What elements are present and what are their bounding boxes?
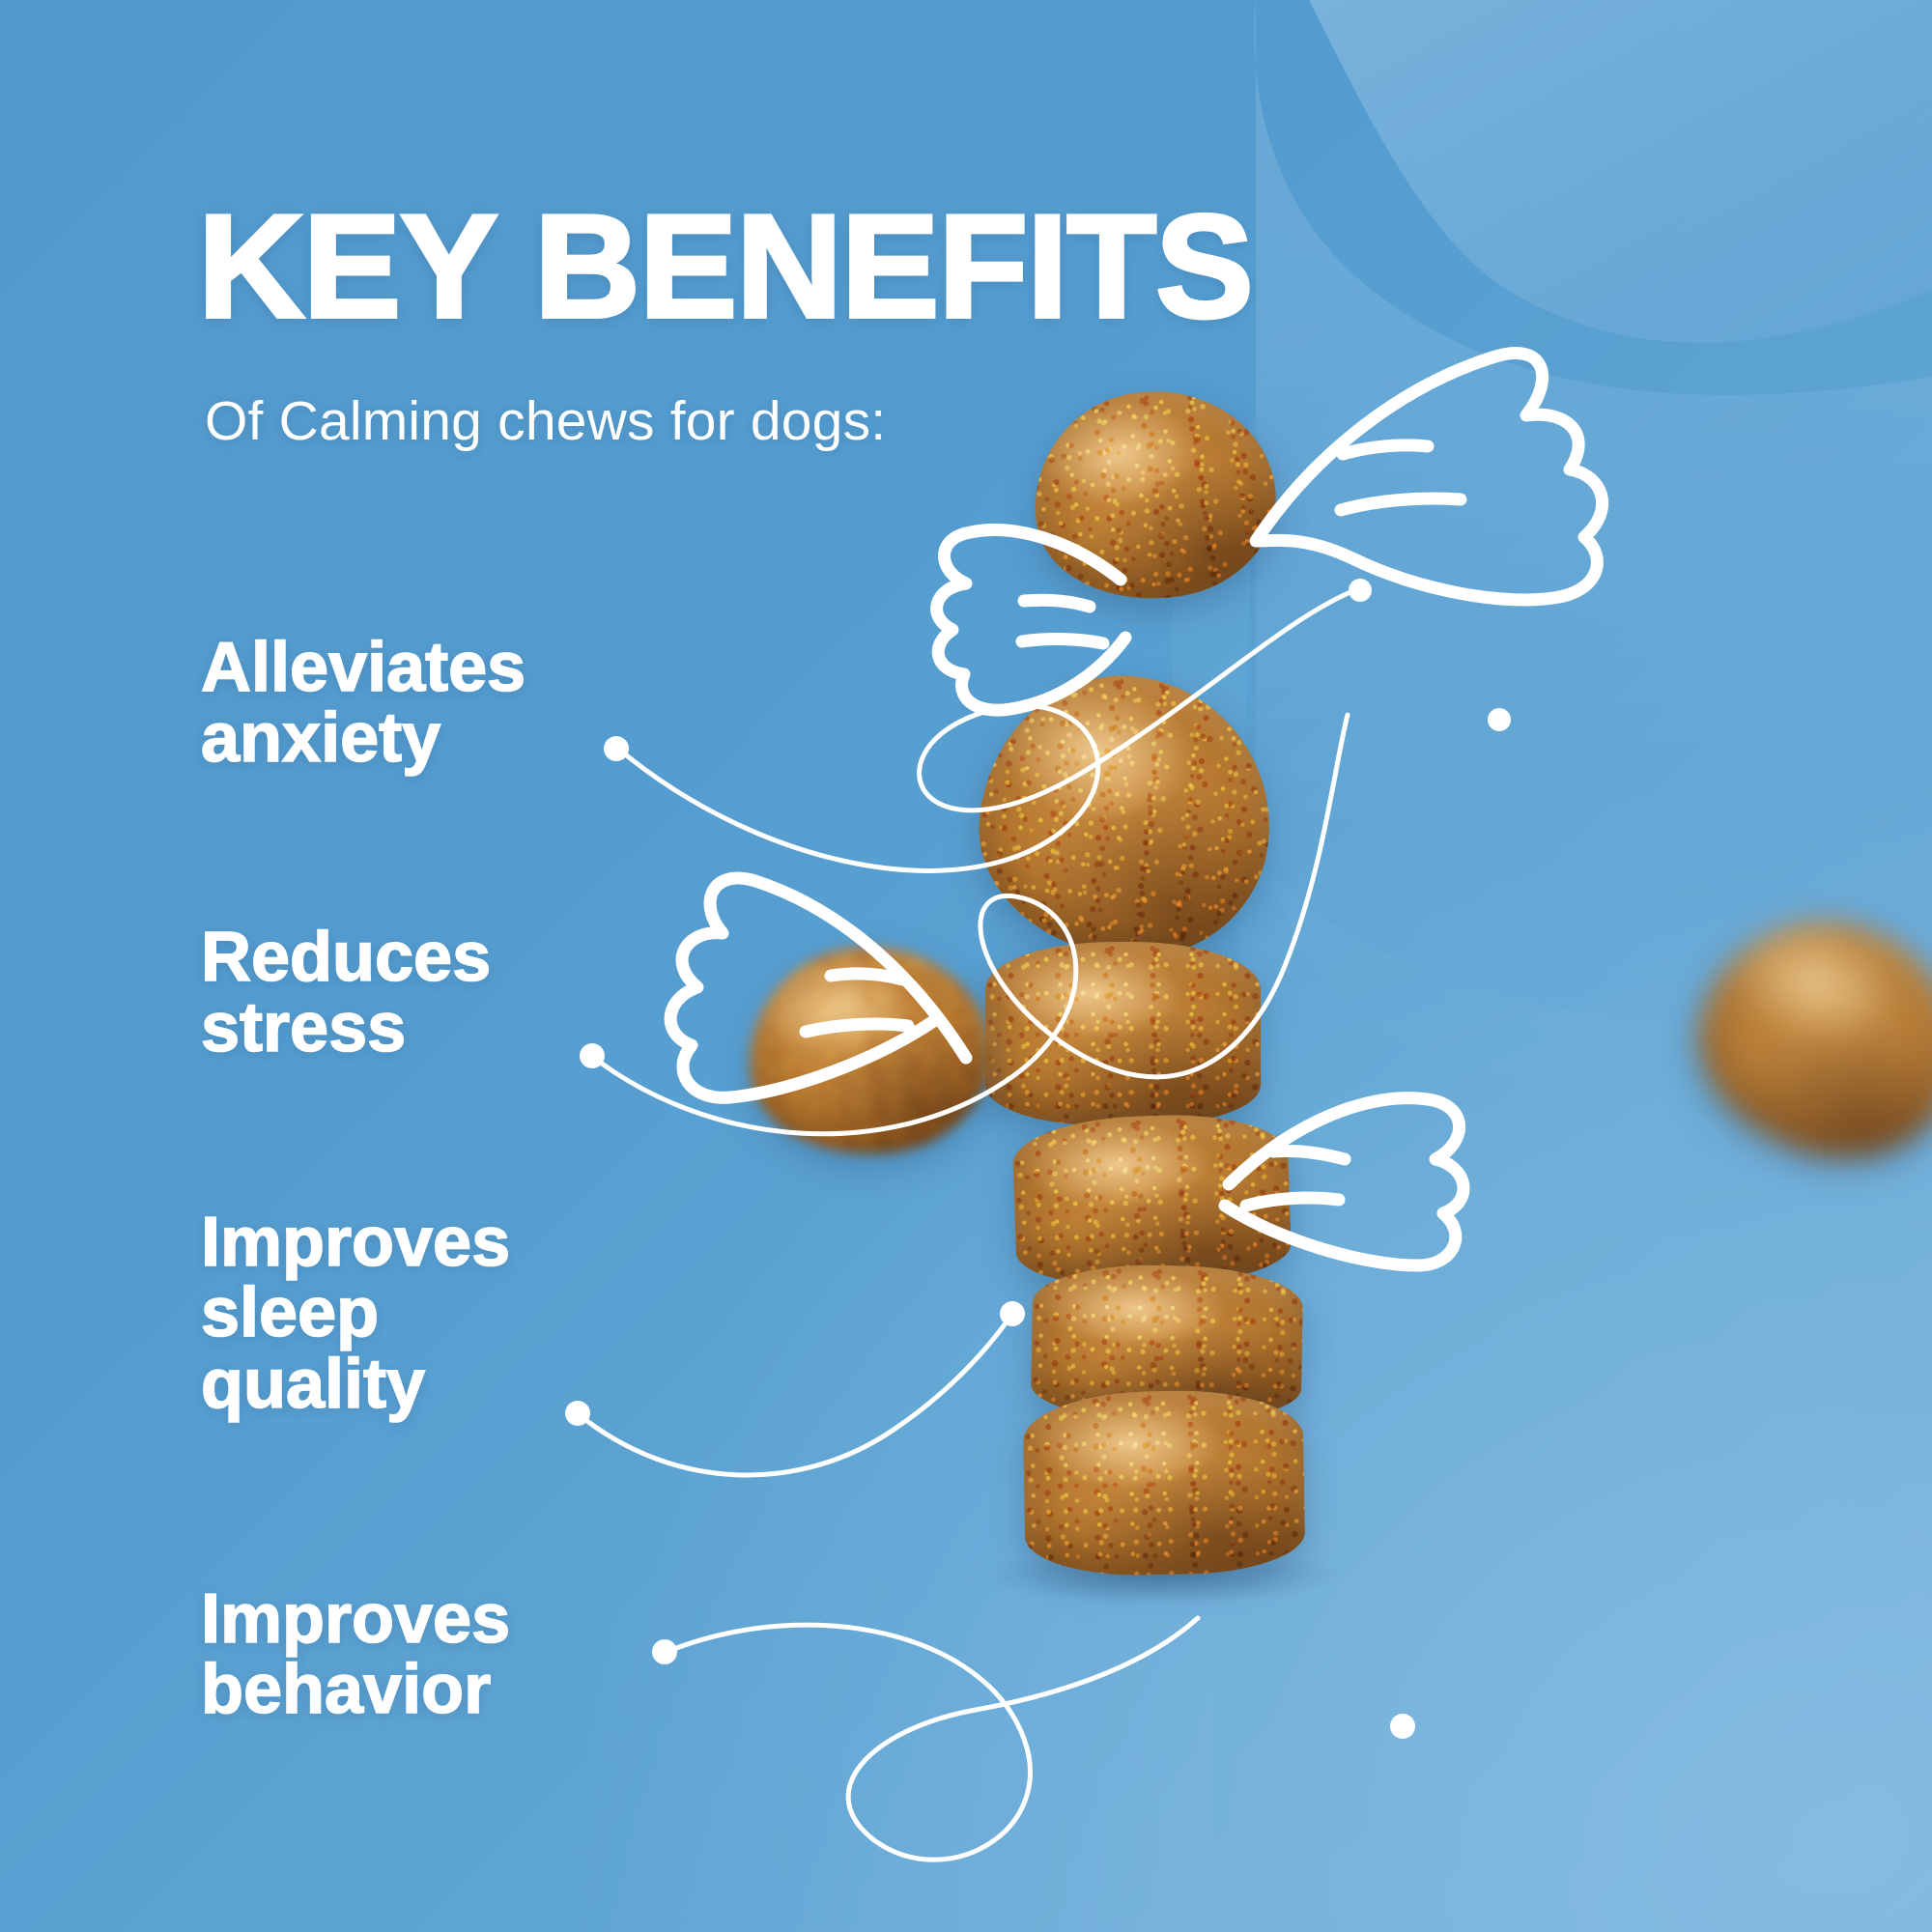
benefit-line: Improves	[201, 1584, 703, 1655]
flying-chew-top	[1020, 376, 1288, 615]
benefit-line: behavior	[201, 1655, 703, 1725]
page-subtitle: Of Calming chews for dogs:	[205, 389, 886, 453]
benefit-line: stress	[201, 993, 703, 1064]
benefit-item-reduces-stress: Reduces stress	[201, 923, 703, 1065]
benefit-line: Alleviates	[201, 633, 703, 703]
benefit-line: sleep	[201, 1278, 703, 1349]
page-title: KEY BENEFITS	[198, 193, 1253, 340]
poster-canvas: KEY BENEFITS Of Calming chews for dogs: …	[0, 0, 1932, 1932]
flying-chew-middle	[738, 935, 1000, 1167]
benefit-line: Improves	[201, 1207, 703, 1278]
benefit-item-improves-sleep-quality: Improves sleep quality	[201, 1207, 703, 1420]
benefit-item-improves-behavior: Improves behavior	[201, 1584, 703, 1726]
stack-chew-1	[967, 662, 1285, 971]
benefit-item-alleviates-anxiety: Alleviates anxiety	[201, 633, 703, 775]
benefit-line: anxiety	[201, 703, 703, 774]
benefit-line: quality	[201, 1350, 703, 1420]
stack-chew-2	[985, 942, 1261, 1125]
bg-blob-large	[1309, 0, 1932, 343]
stack-chew-5	[1022, 1388, 1305, 1577]
benefit-line: Reduces	[201, 923, 703, 993]
